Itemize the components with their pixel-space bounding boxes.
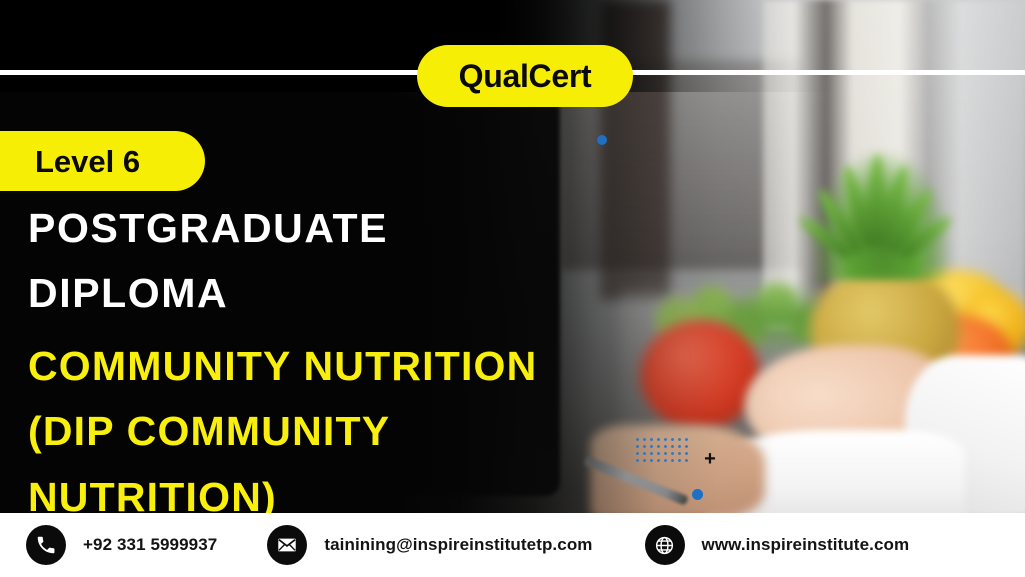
phone-icon — [26, 525, 66, 565]
contact-footer: +92 331 5999937 tainining@inspireinstitu… — [0, 513, 1025, 577]
website-url: www.inspireinstitute.com — [702, 535, 910, 555]
contact-phone[interactable]: +92 331 5999937 — [26, 525, 217, 565]
email-icon — [267, 525, 307, 565]
globe-icon — [645, 525, 685, 565]
contact-email[interactable]: tainining@inspireinstitutetp.com — [267, 525, 592, 565]
brand-badge-label: QualCert — [459, 60, 592, 92]
level-badge: Level 6 — [0, 131, 205, 191]
title-block: POSTGRADUATE DIPLOMA COMMUNITY NUTRITION… — [28, 196, 678, 530]
plus-icon: + — [703, 452, 717, 466]
promo-banner: QualCert Level 6 POSTGRADUATE DIPLOMA CO… — [0, 0, 1025, 577]
qualification-subject: COMMUNITY NUTRITION (DIP COMMUNITY NUTRI… — [28, 334, 678, 531]
blue-dot-icon — [692, 489, 703, 500]
contact-website[interactable]: www.inspireinstitute.com — [645, 525, 910, 565]
level-badge-label: Level 6 — [35, 146, 140, 177]
blue-dot-icon — [597, 135, 607, 145]
email-address: tainining@inspireinstitutetp.com — [324, 535, 592, 555]
dot-grid-icon — [634, 436, 688, 466]
phone-number: +92 331 5999937 — [83, 535, 217, 555]
qualification-title: POSTGRADUATE DIPLOMA — [28, 196, 678, 326]
brand-badge: QualCert — [417, 45, 633, 107]
